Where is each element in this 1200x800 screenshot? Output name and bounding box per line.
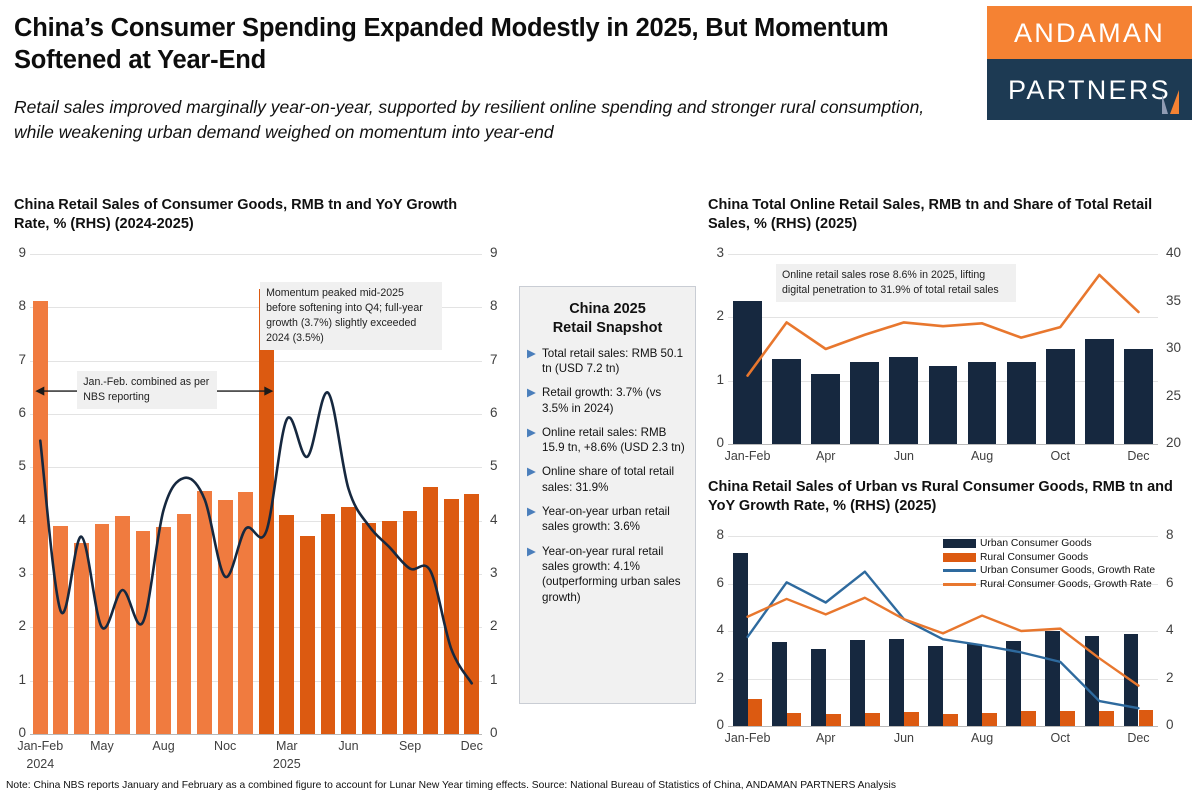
snapshot-bullet-text: Year-on-year urban retail sales growth: … [542, 504, 687, 535]
axis-baseline [728, 444, 1158, 445]
y-axis-tick-left: 9 [4, 245, 26, 260]
x-axis-tick: Jun [864, 449, 944, 463]
y-axis-tick-left: 6 [702, 575, 724, 590]
x-axis-tick: Oct [1020, 731, 1100, 745]
snapshot-bullet-text: Online retail sales: RMB 15.9 tn, +8.6% … [542, 425, 687, 456]
legend-swatch [943, 583, 976, 586]
y-axis-tick-right: 9 [490, 245, 498, 260]
snapshot-panel: China 2025 Retail Snapshot ▶Total retail… [519, 286, 696, 704]
legend-label: Rural Consumer Goods, Growth Rate [980, 579, 1152, 590]
legend-label: Urban Consumer Goods [980, 538, 1092, 549]
x-axis-tick: Jan-Feb [708, 731, 788, 745]
chart-plot-area: 01232025303540Jan-FebAprJunAugOctDecOnli… [728, 254, 1158, 444]
y-axis-tick-left: 3 [4, 565, 26, 580]
legend-label: Urban Consumer Goods, Growth Rate [980, 565, 1155, 576]
snapshot-bullet-item: ▶Year-on-year urban retail sales growth:… [527, 504, 687, 535]
bullet-arrow-icon: ▶ [527, 464, 542, 495]
y-axis-tick-right: 8 [490, 298, 498, 313]
snapshot-bullet-item: ▶Online share of total retail sales: 31.… [527, 464, 687, 495]
snapshot-title: China 2025 Retail Snapshot [530, 300, 685, 338]
y-axis-tick-right: 5 [490, 458, 498, 473]
axis-baseline [728, 726, 1158, 727]
x-axis-tick: Aug [942, 731, 1022, 745]
y-axis-tick-right: 4 [490, 512, 498, 527]
snapshot-bullet-list: ▶Total retail sales: RMB 50.1 tn (USD 7.… [520, 346, 695, 605]
snapshot-bullet-item: ▶Year-on-year rural retail sales growth:… [527, 544, 687, 605]
y-axis-tick-left: 5 [4, 458, 26, 473]
y-axis-tick-right: 0 [1166, 717, 1174, 732]
legend-label: Rural Consumer Goods [980, 552, 1088, 563]
bullet-arrow-icon: ▶ [527, 425, 542, 456]
page-title: China’s Consumer Spending Expanded Modes… [14, 12, 974, 76]
x-axis-tick-year: 2024 [0, 757, 80, 771]
line-series [748, 598, 1139, 686]
line-series [748, 572, 1139, 709]
chart-title: China Total Online Retail Sales, RMB tn … [708, 196, 1198, 233]
axis-baseline [30, 734, 482, 735]
online-callout: Online retail sales rose 8.6% in 2025, l… [776, 264, 1016, 302]
x-axis-tick: Dec [432, 739, 512, 753]
page-header: China’s Consumer Spending Expanded Modes… [0, 0, 1200, 182]
y-axis-tick-left: 1 [4, 672, 26, 687]
snapshot-bullet-item: ▶Online retail sales: RMB 15.9 tn, +8.6%… [527, 425, 687, 456]
chart-title: China Retail Sales of Consumer Goods, RM… [14, 196, 494, 233]
y-axis-tick-left: 0 [4, 725, 26, 740]
x-axis-tick: Aug [942, 449, 1022, 463]
y-axis-tick-right: 4 [1166, 622, 1174, 637]
y-axis-tick-right: 8 [1166, 527, 1174, 542]
x-axis-tick: Apr [786, 731, 866, 745]
line-series [40, 392, 471, 683]
footnote: Note: China NBS reports January and Febr… [6, 780, 1196, 791]
snapshot-bullet-text: Total retail sales: RMB 50.1 tn (USD 7.2… [542, 346, 687, 377]
y-axis-tick-right: 6 [490, 405, 498, 420]
y-axis-tick-left: 2 [4, 618, 26, 633]
snapshot-title-line2: Retail Snapshot [530, 319, 685, 338]
bullet-arrow-icon: ▶ [527, 504, 542, 535]
sail-icon [1153, 86, 1183, 116]
momentum-callout: Momentum peaked mid-2025 before softenin… [260, 282, 442, 350]
y-axis-tick-right: 30 [1166, 340, 1181, 355]
y-axis-tick-left: 0 [702, 717, 724, 732]
company-logo: ANDAMAN PARTNERS [987, 6, 1192, 120]
x-axis-tick: Jan-Feb [708, 449, 788, 463]
legend-item: Rural Consumer Goods [943, 552, 1155, 563]
y-axis-tick-left: 4 [4, 512, 26, 527]
janfeb-callout: Jan.-Feb. combined as per NBS reporting [77, 371, 217, 409]
x-axis-tick-year: 2025 [247, 757, 327, 771]
snapshot-bullet-text: Retail growth: 3.7% (vs 3.5% in 2024) [542, 385, 687, 416]
y-axis-tick-right: 20 [1166, 435, 1181, 450]
chart-plot-area: 0246802468Jan-FebAprJunAugOctDecUrban Co… [728, 536, 1158, 726]
snapshot-title-line1: China 2025 [530, 300, 685, 319]
chart-legend: Urban Consumer GoodsRural Consumer Goods… [943, 538, 1155, 592]
y-axis-tick-left: 6 [4, 405, 26, 420]
y-axis-tick-right: 40 [1166, 245, 1181, 260]
logo-top-band: ANDAMAN [987, 6, 1192, 59]
y-axis-tick-right: 25 [1166, 388, 1181, 403]
legend-item: Rural Consumer Goods, Growth Rate [943, 579, 1155, 590]
y-axis-tick-left: 2 [702, 670, 724, 685]
y-axis-tick-right: 3 [490, 565, 498, 580]
chart-title: China Retail Sales of Urban vs Rural Con… [708, 478, 1198, 515]
x-axis-tick: Oct [1020, 449, 1100, 463]
y-axis-tick-left: 8 [4, 298, 26, 313]
y-axis-tick-right: 7 [490, 352, 498, 367]
chart-online-retail-sales: China Total Online Retail Sales, RMB tn … [700, 196, 1200, 471]
chart-plot-area: 01234567890123456789Jan-Feb2024MayAugNoc… [30, 254, 482, 734]
bullet-arrow-icon: ▶ [527, 544, 542, 605]
y-axis-tick-right: 2 [1166, 670, 1174, 685]
chart-urban-vs-rural: China Retail Sales of Urban vs Rural Con… [700, 478, 1200, 768]
snapshot-bullet-text: Year-on-year rural retail sales growth: … [542, 544, 687, 605]
x-axis-tick: Apr [786, 449, 866, 463]
y-axis-tick-right: 0 [490, 725, 498, 740]
legend-item: Urban Consumer Goods [943, 538, 1155, 549]
y-axis-tick-right: 2 [490, 618, 498, 633]
x-axis-tick: Dec [1098, 731, 1178, 745]
snapshot-bullet-item: ▶Total retail sales: RMB 50.1 tn (USD 7.… [527, 346, 687, 377]
y-axis-tick-left: 4 [702, 622, 724, 637]
x-axis-tick: Dec [1098, 449, 1178, 463]
y-axis-tick-right: 1 [490, 672, 498, 687]
page-subtitle: Retail sales improved marginally year-on… [14, 95, 964, 145]
y-axis-tick-right: 6 [1166, 575, 1174, 590]
bullet-arrow-icon: ▶ [527, 346, 542, 377]
y-axis-tick-left: 0 [702, 435, 724, 450]
legend-item: Urban Consumer Goods, Growth Rate [943, 565, 1155, 576]
snapshot-bullet-item: ▶Retail growth: 3.7% (vs 3.5% in 2024) [527, 385, 687, 416]
y-axis-tick-left: 2 [702, 308, 724, 323]
snapshot-bullet-text: Online share of total retail sales: 31.9… [542, 464, 687, 495]
y-axis-tick-right: 35 [1166, 293, 1181, 308]
legend-swatch [943, 569, 976, 572]
y-axis-tick-left: 7 [4, 352, 26, 367]
y-axis-tick-left: 8 [702, 527, 724, 542]
x-axis-tick: Jun [864, 731, 944, 745]
chart-retail-sales-total: China Retail Sales of Consumer Goods, RM… [0, 196, 500, 736]
legend-swatch [943, 553, 976, 562]
y-axis-tick-left: 1 [702, 372, 724, 387]
legend-swatch [943, 539, 976, 548]
logo-bottom-band: PARTNERS [987, 59, 1192, 120]
bullet-arrow-icon: ▶ [527, 385, 542, 416]
logo-andaman-text: ANDAMAN [987, 18, 1192, 49]
y-axis-tick-left: 3 [702, 245, 724, 260]
